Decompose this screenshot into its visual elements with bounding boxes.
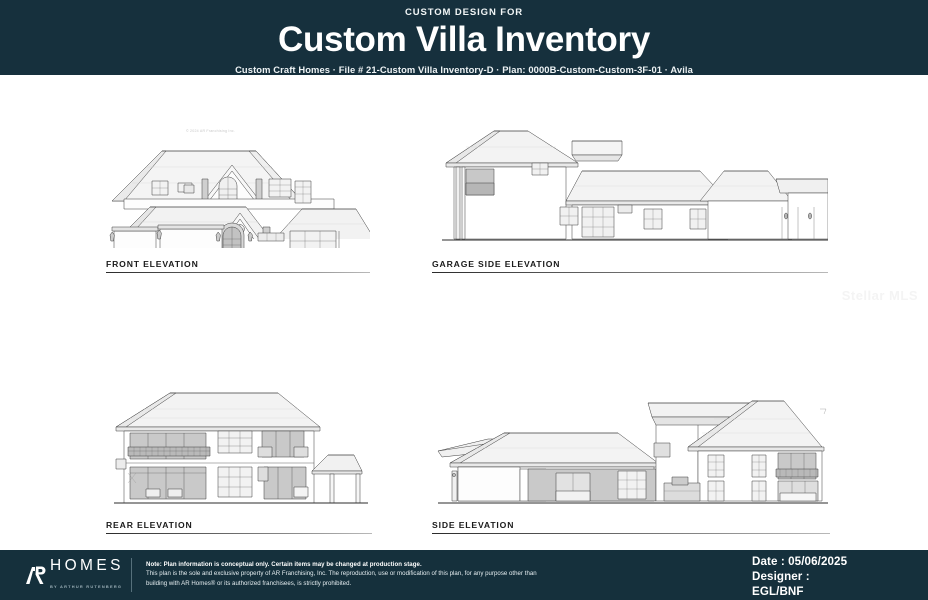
header-eyebrow: CUSTOM DESIGN FOR — [0, 6, 928, 20]
logo-wordmark: HOMES — [50, 557, 124, 574]
plate-side-elevation: SIDE ELEVATION — [432, 387, 830, 509]
logo-tagline: BY ARTHUR RUTENBERG — [50, 584, 123, 589]
page-title: Custom Villa Inventory — [0, 20, 928, 60]
side-elevation-drawing — [432, 387, 830, 509]
rear-elevation-drawing — [106, 387, 372, 509]
sheet-header: CUSTOM DESIGN FOR Custom Villa Inventory… — [0, 0, 928, 75]
ar-homes-logo: HOMES BY ARTHUR RUTENBERG — [24, 558, 124, 592]
plate-rear-elevation: REAR ELEVATION — [106, 387, 372, 509]
label-rule — [432, 533, 830, 534]
stellar-mls-watermark: Stellar MLS — [842, 288, 918, 303]
sheet-date: Date : 05/06/2025 — [752, 554, 847, 569]
rear-elevation-label: REAR ELEVATION — [106, 520, 372, 534]
drawing-area: Stellar MLS — [0, 75, 928, 550]
label-rule — [106, 272, 370, 273]
disclaimer-heading: Note: Plan information is conceptual onl… — [146, 560, 706, 569]
garage-side-elevation-label: GARAGE SIDE ELEVATION — [432, 259, 828, 273]
label-rule — [432, 272, 828, 273]
footer-divider — [131, 558, 132, 592]
garage-side-elevation-label-text: GARAGE SIDE ELEVATION — [432, 259, 828, 272]
side-elevation-label: SIDE ELEVATION — [432, 520, 830, 534]
logo-text: HOMES BY ARTHUR RUTENBERG — [50, 557, 124, 593]
drawing-copyright: © 2024 AR Franchising Inc. — [186, 129, 235, 133]
sheet-meta: Date : 05/06/2025 Designer : EGL/BNF — [752, 554, 847, 600]
designer-label: Designer : — [752, 569, 847, 584]
disclaimer-line-2: building with AR Homes® or its authorize… — [146, 579, 706, 588]
label-rule — [106, 533, 372, 534]
plate-garage-side-elevation: GARAGE SIDE ELEVATION — [432, 123, 828, 248]
elevation-sheet: CUSTOM DESIGN FOR Custom Villa Inventory… — [0, 0, 928, 600]
sheet-footer: HOMES BY ARTHUR RUTENBERG Note: Plan inf… — [0, 550, 928, 600]
front-elevation-label: FRONT ELEVATION — [106, 259, 370, 273]
ar-monogram-icon — [24, 563, 48, 587]
rear-elevation-label-text: REAR ELEVATION — [106, 520, 372, 533]
plate-front-elevation: © 2024 AR Franchising Inc. FRONT ELEVATI… — [106, 123, 370, 248]
footer-disclaimer: Note: Plan information is conceptual onl… — [146, 560, 706, 588]
garage-side-elevation-drawing — [432, 123, 828, 248]
designer-value: EGL/BNF — [752, 584, 847, 599]
front-elevation-drawing — [106, 123, 370, 248]
side-elevation-label-text: SIDE ELEVATION — [432, 520, 830, 533]
front-elevation-label-text: FRONT ELEVATION — [106, 259, 370, 272]
disclaimer-line-1: This plan is the sole and exclusive prop… — [146, 569, 706, 578]
